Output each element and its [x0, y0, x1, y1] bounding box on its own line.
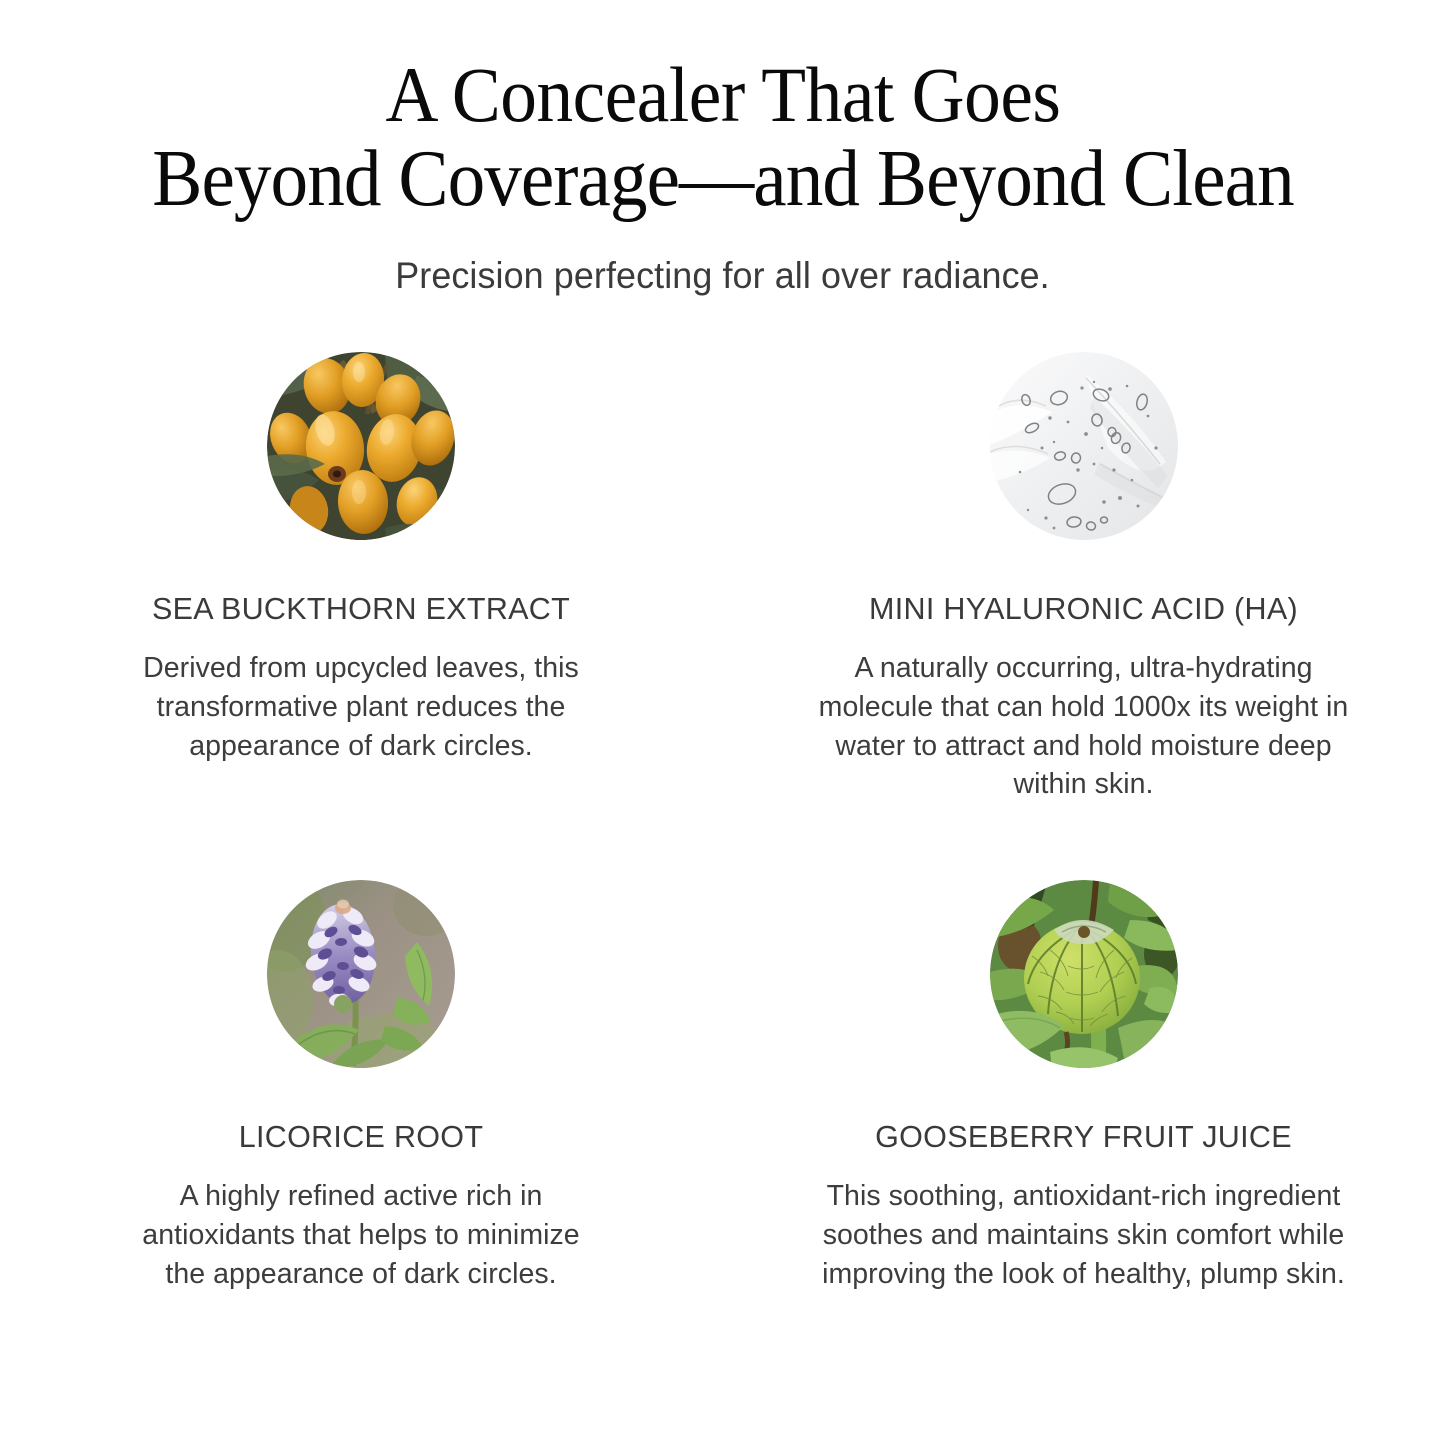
ingredient-description: This soothing, antioxidant-rich ingredie… [819, 1177, 1349, 1293]
licorice-root-flower-photo [267, 880, 455, 1068]
ingredient-title: GOOSEBERRY FRUIT JUICE [875, 1120, 1292, 1155]
page-subtitle: Precision perfecting for all over radian… [22, 255, 1424, 297]
ingredient-description: Derived from upcycled leaves, this trans… [126, 649, 596, 765]
ingredient-title: LICORICE ROOT [239, 1120, 484, 1155]
ingredient-benefits-infographic: A Concealer That Goes Beyond Coverage—an… [0, 0, 1445, 1445]
page-title: A Concealer That Goes Beyond Coverage—an… [126, 54, 1320, 221]
headline-line-1: A Concealer That Goes [126, 54, 1320, 137]
ingredient-card-gooseberry: GOOSEBERRY FRUIT JUICE This soothing, an… [722, 862, 1445, 1293]
gooseberry-fruit-photo [990, 880, 1178, 1068]
ingredient-title: SEA BUCKTHORN EXTRACT [152, 592, 570, 627]
header: A Concealer That Goes Beyond Coverage—an… [0, 0, 1445, 297]
headline-line-2: Beyond Coverage—and Beyond Clean [126, 137, 1320, 222]
ingredient-description: A naturally occurring, ultra-hydrating m… [819, 649, 1349, 804]
hyaluronic-acid-gel-texture-photo [990, 352, 1178, 540]
ingredient-description: A highly refined active rich in antioxid… [126, 1177, 596, 1293]
ingredient-card-sea-buckthorn: SEA BUCKTHORN EXTRACT Derived from upcyc… [0, 352, 722, 862]
ingredient-card-hyaluronic-acid: MINI HYALURONIC ACID (HA) A naturally oc… [722, 352, 1445, 862]
ingredient-card-licorice-root: LICORICE ROOT A highly refined active ri… [0, 862, 722, 1293]
sea-buckthorn-berries-photo [267, 352, 455, 540]
ingredient-title: MINI HYALURONIC ACID (HA) [869, 592, 1298, 627]
ingredient-grid: SEA BUCKTHORN EXTRACT Derived from upcyc… [0, 352, 1445, 1293]
